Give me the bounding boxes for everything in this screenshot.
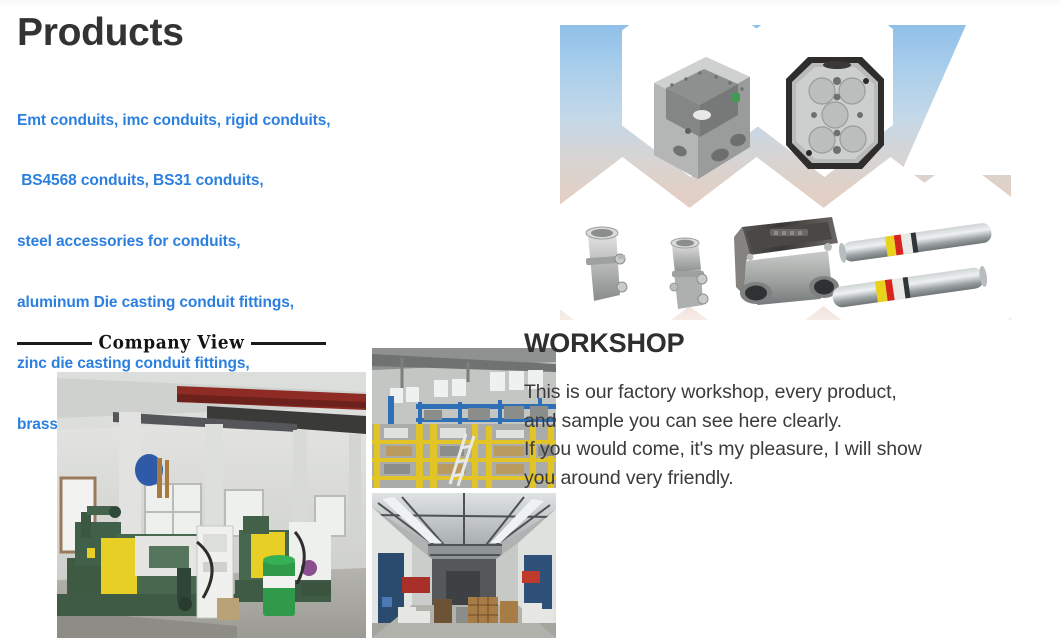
products-list-line: steel accessories for conduits, [17, 232, 497, 252]
banner-rule-right [251, 342, 326, 345]
products-list-line: BS4568 conduits, BS31 conduits, [17, 171, 497, 191]
company-view-label: Company View [99, 334, 245, 352]
products-list-line: aluminum Die casting conduit fittings, [17, 293, 497, 313]
products-list-line: Emt conduits, imc conduits, rigid condui… [17, 111, 497, 131]
workshop-title: WORKSHOP [524, 329, 1034, 359]
banner-rule-left [17, 342, 92, 345]
page-title: Products [17, 13, 497, 54]
workshop-description: This is our factory workshop, every prod… [524, 378, 1034, 492]
collage-products-art [560, 25, 1011, 320]
photo-factory-die-casting-machines [57, 372, 366, 638]
company-view-banner: Company View [17, 332, 326, 354]
photo-factory-aisle-interior [372, 493, 556, 638]
workshop-section: WORKSHOP This is our factory workshop, e… [524, 329, 1034, 512]
product-collage-image [560, 25, 1011, 320]
